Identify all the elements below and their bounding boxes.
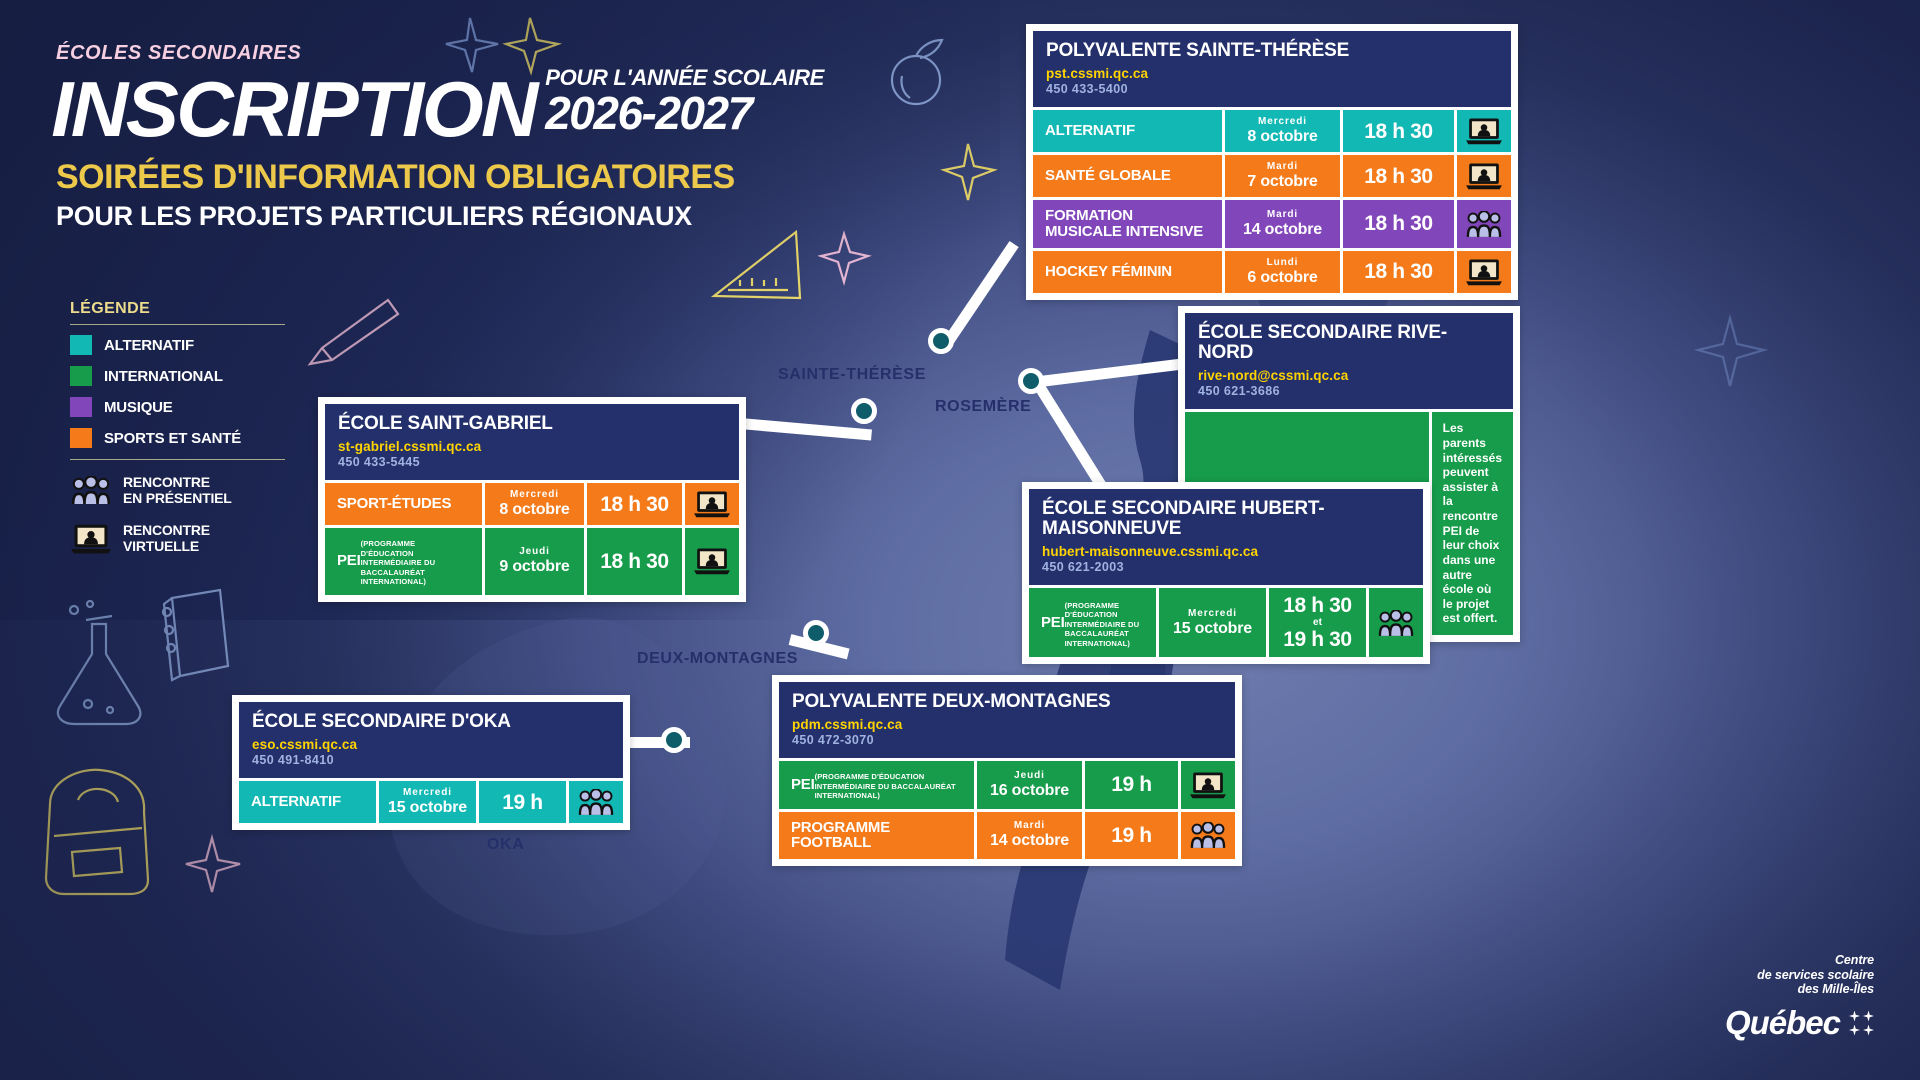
program-date-cell: Mercredi 15 octobre [1156, 588, 1266, 657]
star-doodle-pink [818, 228, 874, 288]
subtitle-programs: POUR LES PROJETS PARTICULIERS RÉGIONAUX [56, 203, 1016, 230]
card-header: ÉCOLE SECONDAIRE D'OKA eso.cssmi.qc.ca 4… [239, 702, 623, 778]
meeting-type-cell [1178, 812, 1235, 860]
program-time: 18 h 30 [1283, 594, 1351, 617]
subtitle-mandatory: SOIRÉES D'INFORMATION OBLIGATOIRES [56, 160, 1016, 194]
program-name-cell: PEI(PROGRAMME D'ÉDUCATION INTERMÉDIAIRE … [779, 761, 974, 808]
legend-item-label: INTERNATIONAL [104, 368, 223, 385]
school-name: POLYVALENTE DEUX-MONTAGNES [792, 692, 1222, 712]
map-pin-deux-montagnes[interactable] [803, 620, 829, 646]
program-subtitle: (PROGRAMME D'ÉDUCATION INTERMÉDIAIRE DU … [1065, 601, 1144, 648]
program-weekday: Jeudi [499, 546, 569, 557]
ruler-triangle-doodle [700, 228, 810, 318]
program-date-cell: Mardi 14 octobre [1222, 200, 1340, 248]
program-row: ALTERNATIF Mercredi 15 octobre 19 h [239, 781, 623, 823]
school-card-pdm: POLYVALENTE DEUX-MONTAGNES pdm.cssmi.qc.… [772, 675, 1242, 866]
school-year-label: POUR L'ANNÉE SCOLAIRE [545, 67, 824, 89]
org-line-1: Centre [1725, 953, 1874, 968]
program-time: 18 h 30 [600, 550, 668, 573]
program-name-cell: PROGRAMME FOOTBALL [779, 812, 974, 860]
program-time-cell: 18 h 30 [1340, 155, 1454, 197]
school-website[interactable]: rive-nord@cssmi.qc.ca [1198, 368, 1500, 383]
program-time: 18 h 30 [1364, 120, 1432, 143]
people-group-icon [1190, 822, 1226, 848]
program-date: 14 octobre [990, 832, 1069, 850]
program-time-cell: 19 h [1082, 812, 1178, 860]
program-date: 9 octobre [499, 558, 569, 576]
poster-canvas: ÉCOLES SECONDAIRES INSCRIPTION POUR L'AN… [0, 0, 1920, 1080]
card-header: POLYVALENTE SAINTE-THÉRÈSE pst.cssmi.qc.… [1033, 31, 1511, 107]
program-name: PEI [337, 553, 361, 569]
legend-item-alternatif: ALTERNATIF [70, 335, 285, 355]
school-card-hubert-maisonneuve: ÉCOLE SECONDAIRE HUBERT-MAISONNEUVE hube… [1022, 482, 1430, 664]
people-group-icon [578, 789, 614, 815]
program-row: SPORT-ÉTUDES Mercredi 8 octobre 18 h 30 [325, 483, 739, 525]
program-time-cell: 18 h 30 [1340, 200, 1454, 248]
school-website[interactable]: hubert-maisonneuve.cssmi.qc.ca [1042, 544, 1410, 559]
quebec-wordmark: Québec [1725, 1004, 1840, 1042]
program-name: FORMATION MUSICALE INTENSIVE [1045, 208, 1210, 240]
program-name-cell: PEI(PROGRAMME D'ÉDUCATION INTERMÉDIAIRE … [1029, 588, 1156, 657]
program-time: 19 h [502, 791, 542, 814]
school-phone[interactable]: 450 621-3686 [1198, 384, 1500, 398]
meeting-type-cell [682, 528, 739, 594]
city-label-deux-montagnes: DEUX-MONTAGNES [637, 650, 798, 668]
legend-swatch-icon [70, 366, 92, 386]
laptop-person-icon [1466, 258, 1502, 286]
school-phone[interactable]: 450 621-2003 [1042, 560, 1410, 574]
program-time: 18 h 30 [1364, 260, 1432, 283]
school-card-oka: ÉCOLE SECONDAIRE D'OKA eso.cssmi.qc.ca 4… [232, 695, 630, 830]
laptop-person-icon [71, 523, 111, 554]
legend-item-label: MUSIQUE [104, 399, 173, 416]
program-time-cell: 19 h [476, 781, 566, 823]
people-group-icon [1378, 610, 1414, 636]
city-label-oka: OKA [487, 836, 524, 854]
laptop-person-icon [1190, 771, 1226, 799]
program-note: Les parents intéressés peuvent assister … [1429, 412, 1513, 635]
school-website[interactable]: pst.cssmi.qc.ca [1046, 66, 1498, 81]
school-website[interactable]: pdm.cssmi.qc.ca [792, 717, 1222, 732]
legend-title: LÉGENDE [70, 300, 285, 318]
school-phone[interactable]: 450 472-3070 [792, 733, 1222, 747]
school-name: POLYVALENTE SAINTE-THÉRÈSE [1046, 41, 1498, 61]
program-date-cell: Mercredi 15 octobre [376, 781, 476, 823]
school-card-st-gabriel: ÉCOLE SAINT-GABRIEL st-gabriel.cssmi.qc.… [318, 397, 746, 602]
program-name: ALTERNATIF [1045, 123, 1135, 139]
map-pin-st-gabriel[interactable] [851, 398, 877, 424]
program-name-cell: SANTÉ GLOBALE [1033, 155, 1222, 197]
program-subtitle: (PROGRAMME D'ÉDUCATION INTERMÉDIAIRE DU … [361, 539, 470, 586]
meeting-type-cell [1454, 155, 1511, 197]
program-row: PEI(PROGRAMME D'ÉDUCATION INTERMÉDIAIRE … [325, 528, 739, 594]
meeting-type-cell [1454, 200, 1511, 248]
program-name: PROGRAMME FOOTBALL [791, 820, 962, 852]
legend-meeting-in-person: RENCONTREEN PRÉSENTIEL [70, 474, 285, 506]
program-subtitle: (PROGRAMME D'ÉDUCATION INTERMÉDIAIRE DU … [815, 772, 962, 800]
program-date-cell: Lundi 6 octobre [1222, 251, 1340, 293]
program-row: HOCKEY FÉMININ Lundi 6 octobre 18 h 30 [1033, 251, 1511, 293]
backpack-doodle [20, 760, 170, 900]
people-group-icon [1466, 211, 1502, 237]
program-date: 8 octobre [499, 501, 569, 519]
program-name-cell: ALTERNATIF [1033, 110, 1222, 152]
pencil-doodle [300, 290, 410, 380]
legend-program-list: ALTERNATIF INTERNATIONAL MUSIQUE SPORTS … [70, 335, 285, 448]
program-date: 15 octobre [388, 799, 467, 817]
program-time-2: 19 h 30 [1283, 628, 1351, 651]
program-time-cell: 18 h 30 [1340, 251, 1454, 293]
laptop-person-icon [1466, 162, 1502, 190]
school-website[interactable]: st-gabriel.cssmi.qc.ca [338, 439, 726, 454]
program-name-cell: SPORT-ÉTUDES [325, 483, 482, 525]
program-name: HOCKEY FÉMININ [1045, 264, 1172, 280]
program-name-cell: ALTERNATIF [239, 781, 376, 823]
program-row: ALTERNATIF Mercredi 8 octobre 18 h 30 [1033, 110, 1511, 152]
legend-item-label: SPORTS ET SANTÉ [104, 430, 241, 447]
school-name: ÉCOLE SECONDAIRE HUBERT-MAISONNEUVE [1042, 499, 1410, 539]
quebec-logo-block: Centre de services scolaire des Mille-Îl… [1725, 953, 1874, 1042]
legend-meeting-label: RENCONTREEN PRÉSENTIEL [123, 474, 232, 506]
program-name: PEI [1041, 615, 1065, 631]
program-date-cell: Mercredi 8 octobre [1222, 110, 1340, 152]
program-weekday: Mercredi [388, 787, 467, 798]
program-row: SANTÉ GLOBALE Mardi 7 octobre 18 h 30 [1033, 155, 1511, 197]
meeting-type-cell [1454, 251, 1511, 293]
school-name: ÉCOLE SECONDAIRE D'OKA [252, 712, 610, 732]
program-time: 18 h 30 [1364, 212, 1432, 235]
legend-meeting-virtual: RENCONTREVIRTUELLE [70, 522, 285, 554]
program-row: PEI(PROGRAMME D'ÉDUCATION INTERMÉDIAIRE … [779, 761, 1235, 808]
program-date-cell: Mercredi 8 octobre [482, 483, 584, 525]
map-pin-oka[interactable] [661, 727, 687, 753]
meeting-type-cell [1366, 588, 1423, 657]
meeting-type-cell [1178, 761, 1235, 808]
legend-panel: LÉGENDE ALTERNATIF INTERNATIONAL MUSIQUE… [70, 300, 285, 570]
city-label-sainte-th-r-se: SAINTE-THÉRÈSE [778, 366, 926, 384]
program-date: 14 octobre [1243, 221, 1322, 239]
program-date-cell: Jeudi 16 octobre [974, 761, 1082, 808]
legend-item-international: INTERNATIONAL [70, 366, 285, 386]
program-name: ALTERNATIF [251, 794, 341, 810]
program-time: 19 h [1111, 773, 1151, 796]
program-time: 18 h 30 [1364, 165, 1432, 188]
program-time: 19 h [1111, 824, 1151, 847]
program-weekday: Jeudi [990, 770, 1069, 781]
school-phone[interactable]: 450 433-5445 [338, 455, 726, 469]
page-title: INSCRIPTION [51, 74, 536, 146]
program-name: SPORT-ÉTUDES [337, 496, 451, 512]
program-time: 18 h 30 [600, 493, 668, 516]
legend-swatch-icon [70, 428, 92, 448]
program-row: PROGRAMME FOOTBALL Mardi 14 octobre 19 h [779, 812, 1235, 860]
program-weekday: Mardi [990, 820, 1069, 831]
school-phone[interactable]: 450 433-5400 [1046, 82, 1498, 96]
quebec-fleur-icon [1849, 1011, 1874, 1036]
program-time-cell: 18 h 30et 19 h 30 [1266, 588, 1366, 657]
program-row: PEI(PROGRAMME D'ÉDUCATION INTERMÉDIAIRE … [1029, 588, 1423, 657]
program-time-cell: 18 h 30 [584, 528, 682, 594]
map-pin-sainte-therese[interactable] [928, 328, 954, 354]
program-time-cell: 19 h [1082, 761, 1178, 808]
city-label-rosem-re: ROSEMÈRE [935, 398, 1031, 416]
program-row: FORMATION MUSICALE INTENSIVE Mardi 14 oc… [1033, 200, 1511, 248]
program-date: 16 octobre [990, 782, 1069, 800]
eyebrow-text: ÉCOLES SECONDAIRES [56, 42, 1016, 65]
program-name: PEI [791, 777, 815, 793]
school-name: ÉCOLE SAINT-GABRIEL [338, 414, 726, 434]
legend-swatch-icon [70, 335, 92, 355]
school-name: ÉCOLE SECONDAIRE RIVE-NORD [1198, 323, 1500, 363]
legend-item-musique: MUSIQUE [70, 397, 285, 417]
org-line-3: des Mille-Îles [1725, 982, 1874, 997]
school-phone[interactable]: 450 491-8410 [252, 753, 610, 767]
program-time-cell: 18 h 30 [584, 483, 682, 525]
school-year-value: 2026-2027 [545, 90, 824, 136]
program-time-cell: 18 h 30 [1340, 110, 1454, 152]
star-doodle-pink-2 [180, 830, 260, 900]
program-weekday: Mercredi [1173, 608, 1252, 619]
people-group-icon [71, 476, 111, 505]
program-date: 6 octobre [1247, 269, 1317, 287]
legend-meeting-list: RENCONTREEN PRÉSENTIEL RENCONTREVIRTUELL… [70, 474, 285, 554]
program-weekday: Mercredi [1247, 116, 1317, 127]
school-card-pst: POLYVALENTE SAINTE-THÉRÈSE pst.cssmi.qc.… [1026, 24, 1518, 300]
poster-header: ÉCOLES SECONDAIRES INSCRIPTION POUR L'AN… [56, 42, 1016, 230]
program-date-cell: Mardi 7 octobre [1222, 155, 1340, 197]
legend-meeting-label: RENCONTREVIRTUELLE [123, 522, 210, 554]
program-date: 7 octobre [1247, 173, 1317, 191]
school-website[interactable]: eso.cssmi.qc.ca [252, 737, 610, 752]
legend-divider-top [70, 324, 285, 325]
card-header: ÉCOLE SECONDAIRE RIVE-NORD rive-nord@css… [1185, 313, 1513, 409]
program-name: SANTÉ GLOBALE [1045, 168, 1171, 184]
meeting-type-cell [1454, 110, 1511, 152]
program-name-cell: HOCKEY FÉMININ [1033, 251, 1222, 293]
laptop-person-icon [694, 490, 730, 518]
legend-swatch-icon [70, 397, 92, 417]
program-date-cell: Jeudi 9 octobre [482, 528, 584, 594]
program-weekday: Mercredi [499, 489, 569, 500]
time-separator: et [1283, 617, 1351, 628]
laptop-person-icon [1466, 117, 1502, 145]
program-date: 8 octobre [1247, 128, 1317, 146]
legend-divider-bottom [70, 459, 285, 460]
card-header: POLYVALENTE DEUX-MONTAGNES pdm.cssmi.qc.… [779, 682, 1235, 758]
meeting-type-cell [682, 483, 739, 525]
flask-doodle [40, 600, 170, 730]
star-doodle-blue-2 [1690, 310, 1780, 400]
program-name-cell: FORMATION MUSICALE INTENSIVE [1033, 200, 1222, 248]
meeting-type-cell [566, 781, 623, 823]
legend-item-sports-et-sant: SPORTS ET SANTÉ [70, 428, 285, 448]
org-line-2: de services scolaire [1725, 968, 1874, 983]
program-weekday: Lundi [1247, 257, 1317, 268]
card-header: ÉCOLE SECONDAIRE HUBERT-MAISONNEUVE hube… [1029, 489, 1423, 585]
legend-item-label: ALTERNATIF [104, 337, 194, 354]
program-date-cell: Mardi 14 octobre [974, 812, 1082, 860]
program-weekday: Mardi [1243, 209, 1322, 220]
program-name-cell: PEI(PROGRAMME D'ÉDUCATION INTERMÉDIAIRE … [325, 528, 482, 594]
card-header: ÉCOLE SAINT-GABRIEL st-gabriel.cssmi.qc.… [325, 404, 739, 480]
map-pin-rosemere[interactable] [1018, 368, 1044, 394]
program-weekday: Mardi [1247, 161, 1317, 172]
laptop-person-icon [694, 547, 730, 575]
program-date: 15 octobre [1173, 620, 1252, 638]
